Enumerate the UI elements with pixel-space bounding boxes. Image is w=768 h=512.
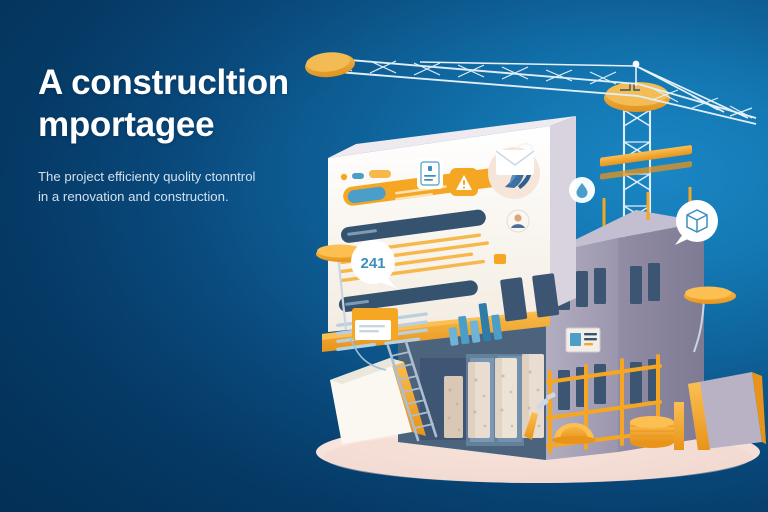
hero-banner: A construcltion mportagee The project ef… <box>0 0 768 512</box>
headline-line-2: mportagee <box>38 104 368 146</box>
subtitle-line-1: The project efficienty quolity ctonntrol <box>38 169 255 184</box>
construction-illustration: 241 <box>300 40 768 512</box>
coin-stack <box>630 416 674 448</box>
status-tag <box>494 254 506 264</box>
headline-line-1: A construcltion <box>38 63 289 102</box>
material-sack-3 <box>495 358 517 438</box>
drop-badge[interactable] <box>569 177 595 203</box>
copy-block: A construcltion mportagee The project ef… <box>38 62 368 206</box>
document-badge[interactable] <box>417 158 443 189</box>
subtitle-line-2: in a renovation and construction. <box>38 189 229 204</box>
package-bubble[interactable] <box>675 200 718 245</box>
page-title: A construcltion mportagee <box>38 62 368 145</box>
count-bubble-label: 241 <box>360 255 385 272</box>
page-subtitle: The project efficienty quolity ctonntrol… <box>38 167 368 206</box>
material-sack-1 <box>444 376 463 438</box>
alert-badge[interactable] <box>450 168 478 196</box>
ramp-panel <box>688 372 766 450</box>
ramp-support <box>674 402 684 450</box>
facade-sign <box>566 328 600 352</box>
material-sack-2 <box>468 362 490 438</box>
envelope-icon <box>496 150 534 175</box>
avatar <box>507 210 529 232</box>
